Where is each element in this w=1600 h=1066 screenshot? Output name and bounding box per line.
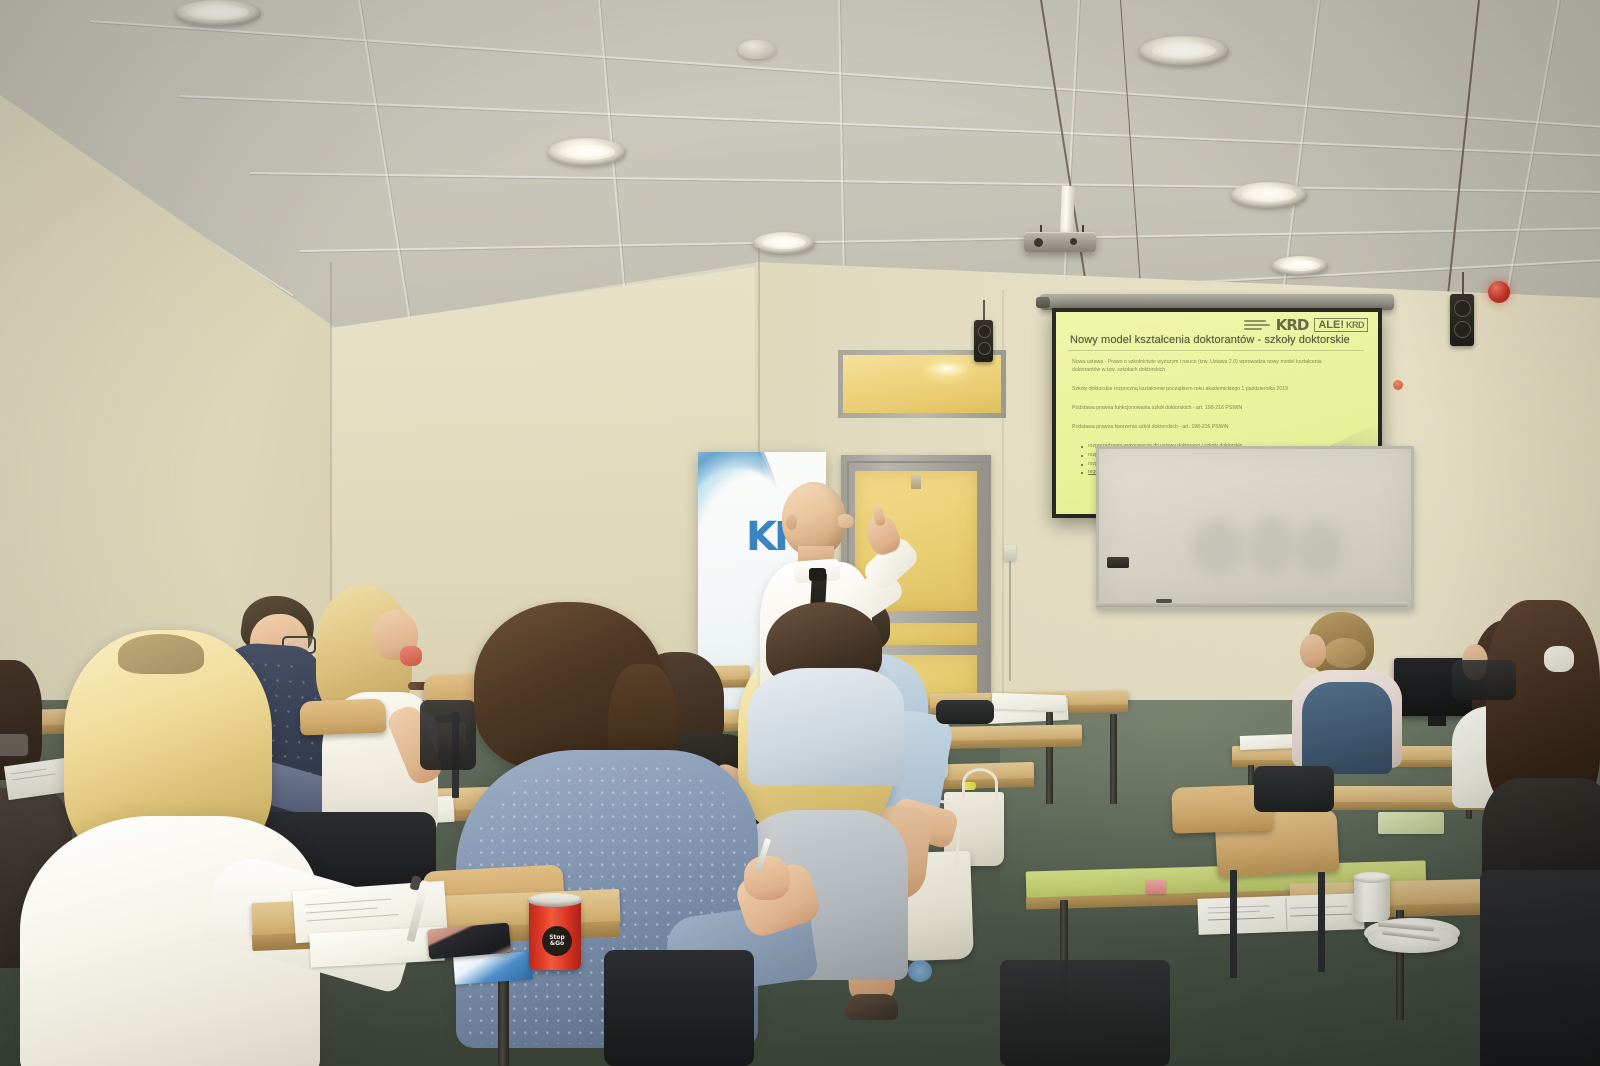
cup-logo: Stop &Go	[542, 926, 572, 956]
ear	[786, 514, 797, 530]
chair-dark[interactable]	[936, 700, 994, 724]
slide-paragraph: Podstawa prawna tworzenia szkół doktorsk…	[1072, 423, 1312, 431]
chair-leg	[1318, 872, 1325, 972]
speaker-stem	[983, 300, 985, 322]
bag-dark	[1254, 766, 1334, 812]
alarm-indicator	[1393, 380, 1403, 390]
open-brochure[interactable]	[1197, 893, 1364, 935]
monitor-stand	[1428, 716, 1446, 726]
ceiling-downlight	[1139, 36, 1229, 66]
notebook[interactable]	[309, 927, 445, 968]
ale-suffix: KRD	[1346, 320, 1364, 330]
whiteboard-tray	[1096, 602, 1408, 607]
slide-logo-group: KRD ALE! KRD	[1244, 316, 1368, 334]
vest-blue	[1302, 682, 1392, 774]
necktie-knot	[809, 568, 826, 581]
nose	[838, 514, 854, 528]
krd-bars-icon	[1244, 320, 1270, 330]
shoe	[846, 994, 898, 1020]
chair-back[interactable]	[299, 699, 386, 736]
fire-alarm-strobe	[1488, 281, 1510, 303]
ceiling-downlight	[1231, 182, 1307, 208]
hair-clip	[1544, 646, 1574, 672]
chair-dark[interactable]	[1452, 660, 1516, 700]
slide-paragraph: Szkoły doktorskie rozpoczną kształcenie …	[1072, 385, 1340, 393]
wall-socket[interactable]	[1004, 545, 1016, 561]
slide-paragraph: Podstawa prawna funkcjonowania szkół dok…	[1072, 404, 1327, 412]
whiteboard[interactable]	[1096, 446, 1414, 610]
chair-dark[interactable]	[604, 950, 754, 1066]
wall-speaker-right	[1450, 294, 1474, 346]
smoke-detector-icon	[738, 40, 776, 59]
ceiling-projector	[1024, 232, 1096, 252]
ale-prefix: ALE!	[1318, 319, 1344, 331]
paper	[1240, 734, 1294, 750]
hair-roots	[118, 634, 204, 674]
cup-brand-line2: &Go	[550, 940, 564, 947]
hand	[744, 856, 790, 900]
ceiling-downlight	[548, 138, 626, 166]
door-sign	[911, 475, 921, 489]
shirt-pale	[748, 668, 904, 786]
krd-logo-text: KRD	[1276, 316, 1309, 334]
ceiling-downlight	[753, 232, 815, 254]
slide-title: Nowy model kształcenia doktorantów - szk…	[1070, 334, 1364, 346]
wall-speaker-left	[974, 320, 993, 362]
whiteboard-marker[interactable]	[1156, 599, 1172, 603]
pink-eraser[interactable]	[1146, 880, 1166, 894]
plastic-cup-rim	[1353, 872, 1391, 883]
ceiling-downlight	[175, 0, 261, 26]
projection-screen-cap	[1036, 297, 1050, 308]
glasses	[0, 732, 30, 758]
chair-dark[interactable]	[1480, 870, 1600, 1066]
hair-bun	[1324, 638, 1366, 668]
bag-dark	[420, 700, 476, 770]
wall-cable	[1009, 561, 1011, 681]
classroom-photo: KRD ALE! KRD Nowy model kształcenia dokt…	[0, 0, 1600, 1066]
hand-object	[400, 646, 422, 666]
speaker-stem	[1462, 272, 1464, 296]
paper-stack	[992, 693, 1067, 712]
book	[1378, 812, 1444, 834]
coffee-cup-rim	[527, 893, 583, 907]
slide-paragraph: Nowa ustawa - Prawo o szkolnictwie wyższ…	[1072, 358, 1322, 374]
whiteboard-eraser[interactable]	[1107, 557, 1129, 568]
head	[1300, 634, 1326, 668]
ceiling-downlight	[1272, 256, 1328, 275]
tote-bag-logo	[908, 960, 932, 982]
bag-dark	[1000, 960, 1170, 1066]
tote-bag-handle	[962, 768, 998, 799]
coffee-cup-red[interactable]: Stop &Go	[529, 898, 581, 970]
ale-krd-badge: ALE! KRD	[1314, 318, 1368, 332]
slide-title-rule	[1068, 350, 1364, 351]
chair-leg	[1230, 870, 1237, 978]
desk-leg	[1110, 714, 1117, 804]
